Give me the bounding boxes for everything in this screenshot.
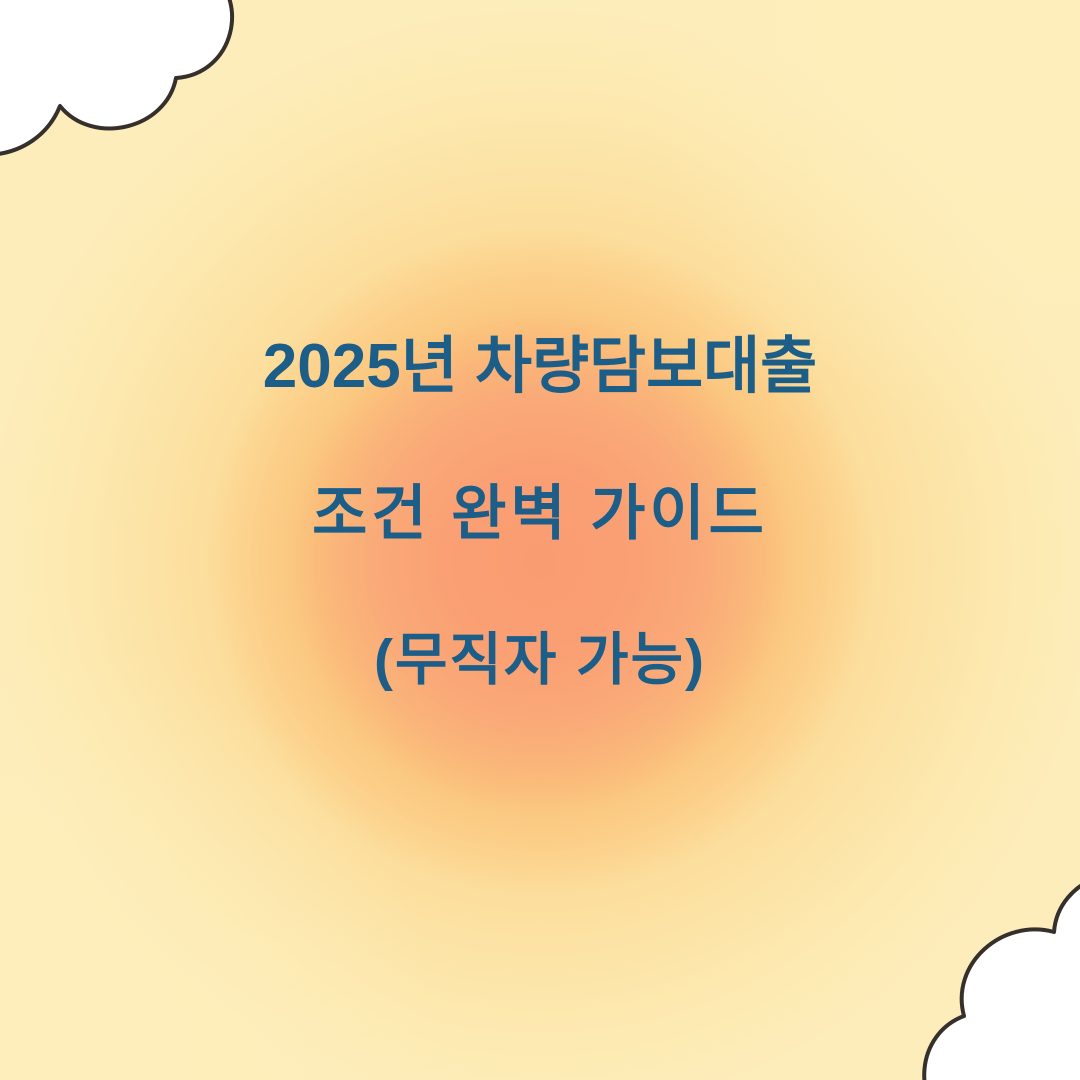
headline-block: 2025년 차량담보대출 조건 완벽 가이드 (무직자 가능) <box>0 336 1080 689</box>
headline-line-1: 2025년 차량담보대출 <box>0 336 1080 398</box>
headline-line-2: 조건 완벽 가이드 <box>0 484 1080 544</box>
headline-line-3: (무직자 가능) <box>0 632 1080 689</box>
promo-card: 2025년 차량담보대출 조건 완벽 가이드 (무직자 가능) <box>0 0 1080 1080</box>
